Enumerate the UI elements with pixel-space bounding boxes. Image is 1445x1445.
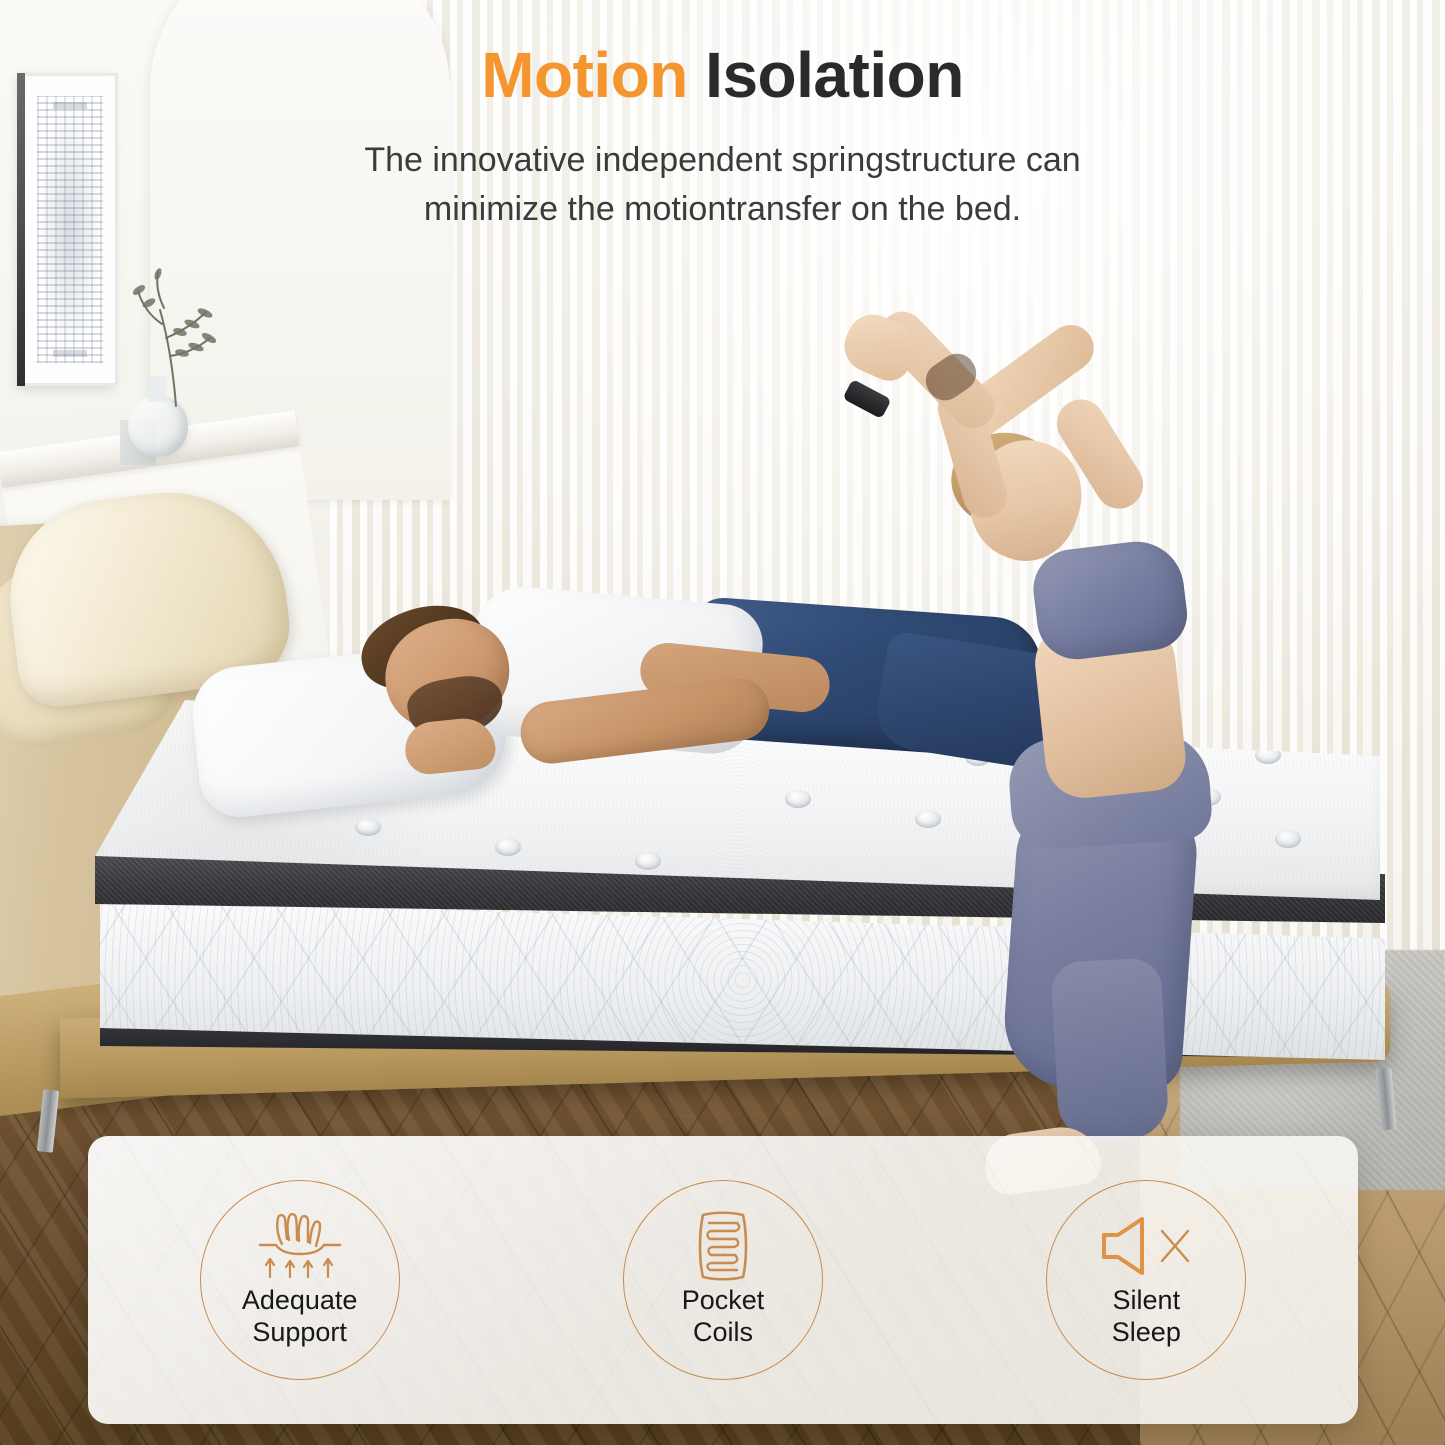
art-caption-bottom [53,350,87,357]
pocket-coil-spring-icon [689,1211,757,1281]
feature-badge-silent-sleep[interactable]: Silent Sleep [1046,1180,1246,1380]
product-marketing-image: Motion Isolation The innovative independ… [0,0,1445,1445]
title-highlight: Motion [481,39,688,111]
feature-badge-label: Silent Sleep [1112,1285,1181,1349]
olive-branch-icon [118,258,228,408]
feature-label-line-1: Pocket [682,1285,765,1317]
subtitle: The innovative independent springstructu… [150,136,1295,235]
feature-badge-label: Pocket Coils [682,1285,765,1349]
feature-panel: Adequate Support [88,1136,1358,1424]
feature-badge-adequate-support[interactable]: Adequate Support [200,1180,400,1380]
art-print-pattern [37,96,103,363]
feature-label-line-2: Support [242,1317,358,1349]
feature-badge-label: Adequate Support [242,1285,358,1349]
muted-speaker-icon [1096,1211,1196,1281]
title-rest: Isolation [688,39,964,111]
feature-label-line-1: Adequate [242,1285,358,1317]
feature-label-line-2: Coils [682,1317,765,1349]
feature-label-line-2: Sleep [1112,1317,1181,1349]
subtitle-line-1: The innovative independent springstructu… [150,136,1295,185]
framed-art-print [22,73,118,386]
feature-label-line-1: Silent [1112,1285,1181,1317]
feature-badge-pocket-coils[interactable]: Pocket Coils [623,1180,823,1380]
page-title: Motion Isolation [0,38,1445,112]
hand-support-arrows-icon [252,1211,348,1281]
subtitle-line-2: minimize the motiontransfer on the bed. [150,185,1295,234]
woman-lower-leg [1050,957,1169,1143]
woman-sports-bra [1029,536,1191,663]
